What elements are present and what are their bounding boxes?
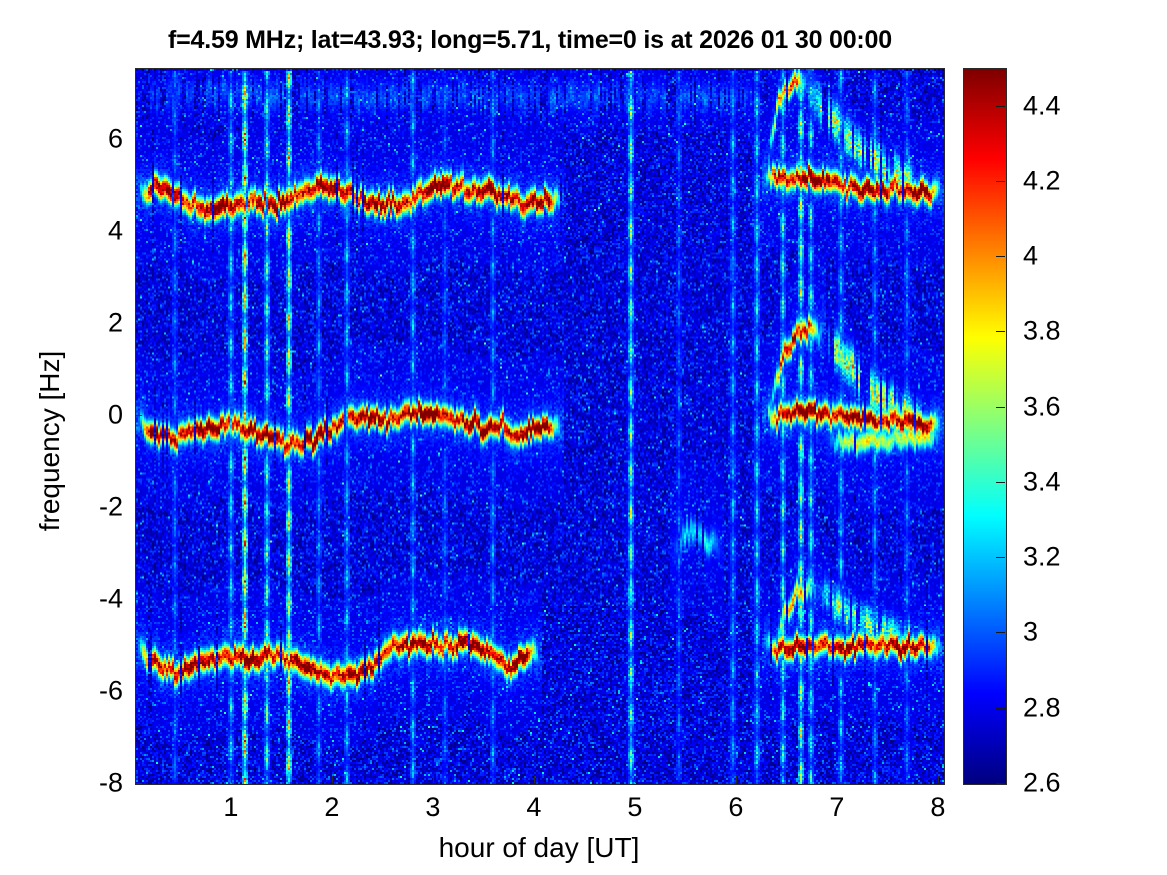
colorbar-tick-mark [996, 632, 1005, 633]
x-tick-label: 5 [605, 792, 665, 823]
y-tick-mark [135, 691, 142, 692]
page-title: f=4.59 MHz; lat=43.93; long=5.71, time=0… [0, 26, 1060, 55]
colorbar-tick-label: 3.4 [1023, 466, 1103, 497]
x-axis-label: hour of day [UT] [135, 832, 943, 864]
colorbar-tick-label: 3.2 [1023, 542, 1103, 573]
y-tick-mark [135, 415, 142, 416]
y-tick-label: -8 [63, 768, 123, 799]
colorbar-tick-mark [996, 482, 1005, 483]
x-tick-label: 7 [807, 792, 867, 823]
y-tick-label: -4 [63, 584, 123, 615]
y-tick-mark [135, 231, 142, 232]
colorbar-tick-mark [996, 557, 1005, 558]
x-tick-label: 1 [201, 792, 261, 823]
colorbar-tick-label: 3.8 [1023, 316, 1103, 347]
x-tick-label: 3 [403, 792, 463, 823]
x-tick-label: 8 [908, 792, 968, 823]
y-tick-label: -6 [63, 676, 123, 707]
colorbar-tick-mark [996, 181, 1005, 182]
x-tick-mark [534, 776, 535, 783]
x-tick-mark [837, 776, 838, 783]
colorbar-tick-mark [996, 708, 1005, 709]
x-tick-mark [635, 776, 636, 783]
colorbar-tick-mark [996, 106, 1005, 107]
x-tick-mark [332, 776, 333, 783]
colorbar-tick-label: 3 [1023, 617, 1103, 648]
y-tick-mark [135, 323, 142, 324]
colorbar[interactable] [963, 68, 1007, 785]
y-axis-label: frequency [Hz] [34, 91, 66, 791]
colorbar-tick-label: 4.4 [1023, 90, 1103, 121]
y-tick-mark [135, 783, 142, 784]
y-tick-label: 2 [63, 308, 123, 339]
colorbar-tick-mark [996, 256, 1005, 257]
colorbar-tick-mark [996, 407, 1005, 408]
colorbar-tick-label: 3.6 [1023, 391, 1103, 422]
spectrogram-figure: f=4.59 MHz; lat=43.93; long=5.71, time=0… [0, 0, 1167, 875]
y-tick-label: -2 [63, 492, 123, 523]
y-tick-mark [135, 599, 142, 600]
x-tick-mark [433, 776, 434, 783]
colorbar-tick-label: 2.8 [1023, 692, 1103, 723]
x-tick-label: 4 [504, 792, 564, 823]
y-tick-mark [135, 507, 142, 508]
spectrogram-axes[interactable] [135, 68, 945, 785]
colorbar-tick-label: 4 [1023, 241, 1103, 272]
x-tick-mark [736, 776, 737, 783]
colorbar-canvas [964, 69, 1006, 784]
x-tick-mark [938, 776, 939, 783]
spectrogram-canvas[interactable] [136, 69, 944, 784]
colorbar-tick-mark [996, 783, 1005, 784]
colorbar-tick-mark [996, 331, 1005, 332]
x-tick-label: 6 [706, 792, 766, 823]
y-tick-label: 6 [63, 124, 123, 155]
colorbar-tick-label: 4.2 [1023, 165, 1103, 196]
colorbar-tick-label: 2.6 [1023, 768, 1103, 799]
x-tick-mark [231, 776, 232, 783]
x-tick-label: 2 [302, 792, 362, 823]
y-tick-label: 4 [63, 216, 123, 247]
y-tick-label: 0 [63, 400, 123, 431]
y-tick-mark [135, 139, 142, 140]
